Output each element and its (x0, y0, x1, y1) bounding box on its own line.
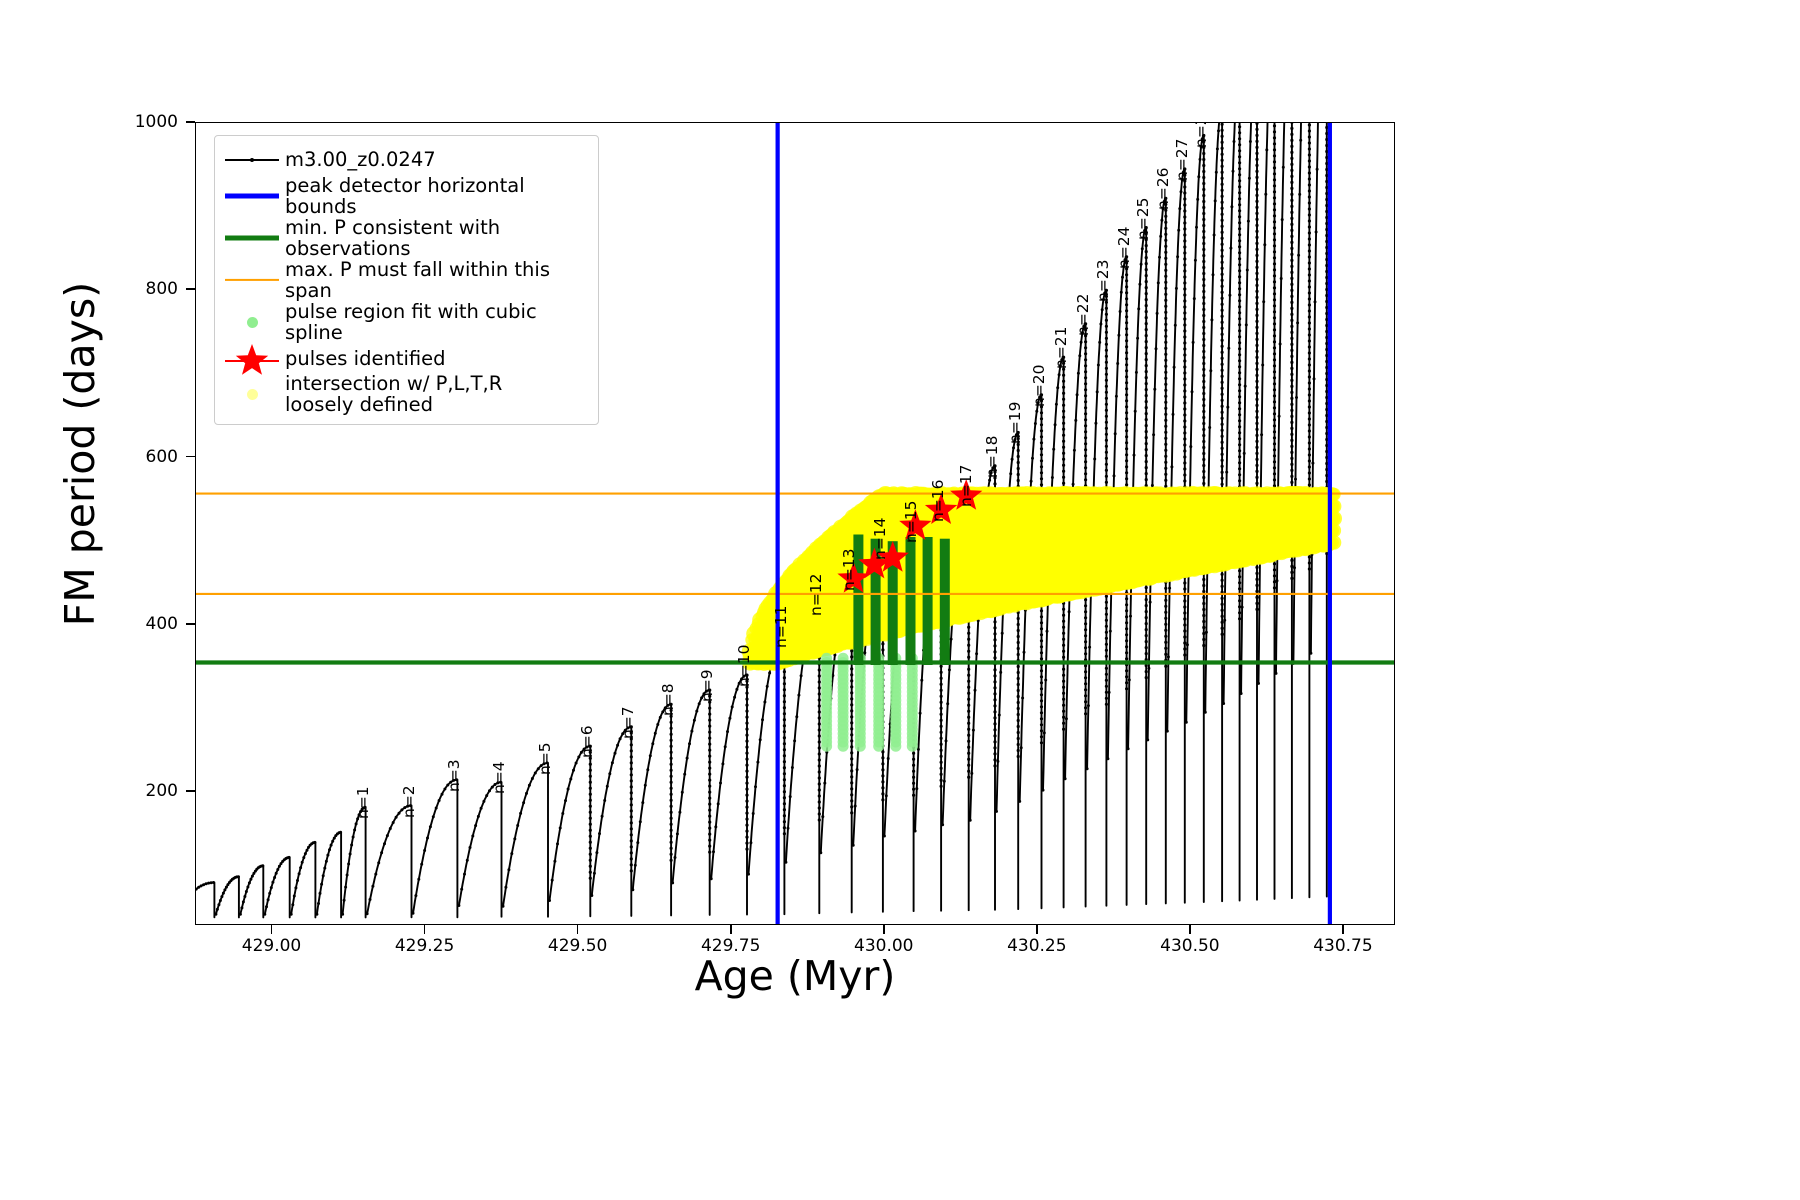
model-data-point (967, 698, 970, 701)
model-data-point (1125, 417, 1128, 420)
model-data-point (1183, 305, 1186, 308)
model-data-point (1020, 746, 1023, 749)
model-data-point (745, 842, 748, 845)
model-data-point (1160, 219, 1163, 222)
model-data-point (1164, 251, 1167, 254)
model-data-point (1290, 205, 1293, 208)
model-data-point (1086, 767, 1089, 770)
model-data-point (1164, 269, 1167, 272)
model-data-point (1164, 623, 1167, 626)
model-data-point (1308, 177, 1311, 180)
model-data-point (940, 701, 943, 704)
model-data-point (1046, 630, 1049, 633)
model-data-point (1164, 653, 1167, 656)
model-data-point (1221, 315, 1224, 318)
model-data-point (1308, 405, 1311, 408)
model-data-point (1290, 157, 1293, 160)
model-data-point (1199, 158, 1202, 161)
y-tick (186, 456, 195, 458)
model-data-point (1164, 263, 1167, 266)
legend[interactable]: m3.00_z0.0247peak detector horizontal bo… (214, 135, 599, 425)
model-data-point (818, 668, 821, 671)
model-data-point (783, 772, 786, 775)
model-data-point (1145, 358, 1148, 361)
model-data-point (940, 785, 943, 788)
legend-item-5[interactable]: pulses identified (223, 343, 588, 373)
model-data-point (783, 784, 786, 787)
model-data-point (1202, 170, 1205, 173)
model-data-point (1035, 410, 1038, 413)
model-data-point (1221, 447, 1224, 450)
model-data-point (420, 863, 423, 866)
model-data-point (1290, 331, 1293, 334)
model-data-point (350, 844, 353, 847)
model-data-point (783, 814, 786, 817)
model-data-point (670, 763, 673, 766)
model-data-point (1202, 326, 1205, 329)
model-data-point (301, 861, 304, 864)
model-data-point (1221, 291, 1224, 294)
model-data-point (1221, 597, 1224, 600)
model-data-point (1238, 413, 1241, 416)
model-data-point (818, 722, 821, 725)
model-track-segment (550, 746, 591, 916)
model-data-point (818, 692, 821, 695)
dot-marker-icon (223, 379, 281, 409)
y-tick-label: 400 (58, 614, 178, 634)
model-data-point (589, 877, 592, 880)
model-data-point (1125, 327, 1128, 330)
model-data-point (561, 812, 564, 815)
model-data-point (1105, 439, 1108, 442)
model-data-point (1125, 423, 1128, 426)
model-data-point (630, 839, 633, 842)
legend-item-3[interactable]: max. P must fall within this span (223, 259, 588, 301)
model-data-point (1145, 418, 1148, 421)
model-data-point (1202, 590, 1205, 593)
model-data-point (1145, 274, 1148, 277)
model-data-point (940, 767, 943, 770)
model-data-point (1189, 445, 1192, 448)
model-data-point (783, 808, 786, 811)
model-data-point (1183, 191, 1186, 194)
model-data-point (1221, 393, 1224, 396)
model-data-point (1221, 345, 1224, 348)
model-data-point (1202, 278, 1205, 281)
model-data-point (1202, 236, 1205, 239)
model-data-point (1040, 621, 1043, 624)
model-data-point (469, 846, 472, 849)
legend-item-6[interactable]: intersection w/ P,L,T,Rloosely defined (223, 373, 588, 415)
model-data-point (1183, 383, 1186, 386)
model-data-point (1105, 391, 1108, 394)
model-data-point (1164, 365, 1167, 368)
model-data-point (1202, 182, 1205, 185)
model-data-point (1145, 280, 1148, 283)
model-data-point (606, 785, 609, 788)
model-data-point (967, 710, 970, 713)
model-data-point (1084, 670, 1087, 673)
model-data-point (1017, 719, 1020, 722)
model-data-point (1308, 483, 1311, 486)
model-data-point (417, 878, 420, 881)
legend-item-0[interactable]: m3.00_z0.0247 (223, 145, 588, 175)
model-data-point (1221, 483, 1224, 486)
model-data-point (1062, 710, 1065, 713)
model-data-point (1145, 370, 1148, 373)
model-data-point (708, 725, 711, 728)
model-data-point (1183, 407, 1186, 410)
model-data-point (438, 799, 441, 802)
model-data-point (1170, 465, 1173, 468)
model-data-point (1145, 436, 1148, 439)
model-data-point (1290, 283, 1293, 286)
model-data-point (850, 799, 853, 802)
model-data-point (1202, 608, 1205, 611)
model-data-point (590, 894, 593, 897)
model-data-point (1221, 243, 1224, 246)
model-data-point (389, 827, 392, 830)
model-data-point (1125, 687, 1128, 690)
pulse-label-n-20: n=20 (1030, 364, 1048, 407)
model-data-point (1217, 129, 1220, 132)
model-data-point (1221, 321, 1224, 324)
model-data-point (1040, 741, 1043, 744)
model-data-point (1308, 369, 1311, 372)
model-data-point (1098, 341, 1101, 344)
model-data-point (1273, 370, 1276, 373)
model-data-point (1145, 334, 1148, 337)
model-data-point (1164, 359, 1167, 362)
model-data-point (559, 827, 562, 830)
model-data-point (1062, 656, 1065, 659)
model-data-point (1183, 239, 1186, 242)
model-data-point (1247, 220, 1250, 223)
model-data-point (768, 672, 771, 675)
model-data-point (993, 740, 996, 743)
model-data-point (589, 823, 592, 826)
model-data-point (1125, 597, 1128, 600)
model-data-point (967, 644, 970, 647)
model-data-point (1084, 634, 1087, 637)
model-data-point (708, 755, 711, 758)
model-data-point (1051, 476, 1054, 479)
model-data-point (745, 704, 748, 707)
model-data-point (1255, 392, 1258, 395)
model-data-point (1255, 146, 1258, 149)
model-data-point (1125, 363, 1128, 366)
y-tick-label: 800 (58, 279, 178, 299)
model-data-point (265, 905, 268, 908)
model-data-point (993, 626, 996, 629)
model-data-point (589, 841, 592, 844)
model-data-point (1202, 356, 1205, 359)
model-data-point (1290, 367, 1293, 370)
model-data-point (659, 716, 662, 719)
model-data-point (1290, 307, 1293, 310)
model-data-point (1290, 265, 1293, 268)
model-data-point (1225, 471, 1228, 474)
model-data-point (1273, 298, 1276, 301)
model-data-point (1255, 452, 1258, 455)
model-data-point (920, 679, 923, 682)
model-data-point (1105, 625, 1108, 628)
model-data-point (1183, 203, 1186, 206)
model-data-point (1094, 422, 1097, 425)
model-data-point (1290, 439, 1293, 442)
model-data-point (993, 764, 996, 767)
model-data-point (1105, 469, 1108, 472)
model-data-point (654, 732, 657, 735)
model-data-point (1044, 679, 1047, 682)
model-data-point (1255, 302, 1258, 305)
model-data-point (1017, 467, 1020, 470)
model-data-point (940, 755, 943, 758)
model-data-point (1238, 599, 1241, 602)
model-data-point (1101, 308, 1104, 311)
legend-item-4[interactable]: pulse region fit with cubic spline (223, 301, 588, 343)
model-data-point (1183, 467, 1186, 470)
model-data-point (1105, 415, 1108, 418)
model-data-point (1155, 347, 1158, 350)
model-data-point (1017, 461, 1020, 464)
model-data-point (912, 758, 915, 761)
model-data-point (1105, 397, 1108, 400)
model-data-point (1273, 196, 1276, 199)
model-data-point (1221, 285, 1224, 288)
legend-line (225, 279, 279, 281)
model-data-point (1308, 357, 1311, 360)
model-data-point (1040, 459, 1043, 462)
model-data-point (1125, 279, 1128, 282)
model-data-point (1040, 417, 1043, 420)
model-data-point (1068, 610, 1071, 613)
model-data-point (1273, 400, 1276, 403)
model-data-point (477, 815, 480, 818)
model-data-point (1145, 256, 1148, 259)
model-data-point (1221, 429, 1224, 432)
model-data-point (1084, 376, 1087, 379)
model-data-point (940, 683, 943, 686)
model-data-point (1009, 472, 1012, 475)
model-data-point (1062, 410, 1065, 413)
model-data-point (1238, 203, 1241, 206)
pulse-label-n-28: n=28 (1192, 122, 1210, 148)
model-data-point (1273, 358, 1276, 361)
model-data-point (731, 705, 734, 708)
legend-item-2[interactable]: min. P consistent with observations (223, 217, 588, 259)
model-data-point (1021, 697, 1024, 700)
model-data-point (1164, 245, 1167, 248)
model-data-point (1183, 389, 1186, 392)
model-data-point (1164, 611, 1167, 614)
model-data-point (366, 912, 369, 915)
model-data-point (1183, 215, 1186, 218)
model-data-point (850, 685, 853, 688)
model-data-point (641, 801, 644, 804)
model-data-point (1125, 675, 1128, 678)
model-data-point (589, 781, 592, 784)
model-track-segment (291, 842, 315, 917)
model-data-point (1316, 168, 1319, 171)
model-data-point (745, 782, 748, 785)
model-data-point (1183, 371, 1186, 374)
model-data-point (1084, 628, 1087, 631)
legend-label: peak detector horizontal bounds (281, 175, 588, 217)
model-data-point (1308, 303, 1311, 306)
model-data-point (1255, 152, 1258, 155)
model-data-point (1040, 675, 1043, 678)
model-data-point (881, 774, 884, 777)
model-data-point (630, 749, 633, 752)
model-data-point (1202, 152, 1205, 155)
thick-line-icon (223, 223, 281, 253)
model-data-point (1240, 692, 1243, 695)
model-data-point (850, 667, 853, 670)
model-data-point (1221, 411, 1224, 414)
model-data-point (967, 650, 970, 653)
model-data-point (1202, 620, 1205, 623)
model-data-point (1167, 655, 1170, 658)
model-data-point (1164, 371, 1167, 374)
model-data-point (1238, 197, 1241, 200)
model-data-point (821, 815, 824, 818)
model-data-point (823, 782, 826, 785)
model-data-point (993, 668, 996, 671)
model-data-point (1145, 586, 1148, 589)
model-data-point (1290, 337, 1293, 340)
model-data-point (1062, 458, 1065, 461)
model-data-point (912, 794, 915, 797)
model-data-point (1137, 307, 1140, 310)
model-data-point (1273, 124, 1276, 127)
model-data-point (745, 824, 748, 827)
model-data-point (1308, 453, 1311, 456)
model-data-point (745, 716, 748, 719)
model-data-point (237, 875, 240, 878)
model-data-point (783, 790, 786, 793)
model-data-point (1105, 655, 1108, 658)
model-data-point (967, 632, 970, 635)
model-data-point (1121, 276, 1124, 279)
model-data-point (1105, 679, 1108, 682)
model-data-point (1255, 332, 1258, 335)
model-data-point (791, 766, 794, 769)
model-data-point (850, 805, 853, 808)
model-data-point (1183, 623, 1186, 626)
model-data-point (1125, 483, 1128, 486)
model-data-point (1125, 441, 1128, 444)
model-data-point (1221, 135, 1224, 138)
pulse-label-n-3: n=3 (445, 759, 463, 792)
model-data-point (1145, 676, 1148, 679)
model-data-point (1246, 269, 1249, 272)
model-data-point (1221, 213, 1224, 216)
model-data-point (1125, 639, 1128, 642)
model-data-point (1134, 410, 1137, 413)
model-data-point (1183, 233, 1186, 236)
model-data-point (291, 903, 294, 906)
model-data-point (1238, 617, 1241, 620)
model-data-point (967, 680, 970, 683)
model-data-point (1238, 257, 1241, 260)
model-data-point (1212, 273, 1215, 276)
model-data-point (1158, 256, 1161, 259)
model-data-point (745, 776, 748, 779)
legend-item-1[interactable]: peak detector horizontal bounds (223, 175, 588, 217)
model-data-point (708, 833, 711, 836)
model-data-point (1105, 421, 1108, 424)
model-data-point (1221, 249, 1224, 252)
model-data-point (670, 841, 673, 844)
model-data-point (850, 793, 853, 796)
model-data-point (1221, 621, 1224, 624)
model-data-point (1221, 231, 1224, 234)
model-data-point (513, 837, 516, 840)
model-data-point (1273, 448, 1276, 451)
model-data-point (1215, 171, 1218, 174)
model-data-point (1164, 419, 1167, 422)
model-data-point (1255, 284, 1258, 287)
model-data-point (589, 859, 592, 862)
model-data-point (1093, 458, 1096, 461)
model-data-point (1062, 722, 1065, 725)
model-data-point (1183, 287, 1186, 290)
model-data-point (1290, 373, 1293, 376)
model-data-point (1040, 435, 1043, 438)
model-data-point (589, 793, 592, 796)
model-data-point (1183, 257, 1186, 260)
model-data-point (1135, 371, 1138, 374)
model-data-point (1183, 419, 1186, 422)
model-data-point (1145, 310, 1148, 313)
model-data-point (1040, 735, 1043, 738)
model-data-point (881, 798, 884, 801)
model-data-point (1273, 454, 1276, 457)
model-data-point (1145, 424, 1148, 427)
model-data-point (1105, 325, 1108, 328)
model-data-point (1290, 253, 1293, 256)
model-data-point (1084, 466, 1087, 469)
model-data-point (1164, 479, 1167, 482)
model-data-point (1183, 269, 1186, 272)
model-data-point (1084, 460, 1087, 463)
model-data-point (1125, 633, 1128, 636)
model-data-point (708, 743, 711, 746)
model-data-point (1120, 291, 1123, 294)
model-data-point (1052, 448, 1055, 451)
model-data-point (708, 707, 711, 710)
pulse-label-n-14: n=14 (871, 517, 889, 560)
model-data-point (1084, 682, 1087, 685)
model-data-point (1017, 683, 1020, 686)
model-data-point (1290, 463, 1293, 466)
model-data-point (1078, 354, 1081, 357)
model-data-point (818, 686, 821, 689)
model-data-point (1164, 353, 1167, 356)
model-data-point (1273, 418, 1276, 421)
model-data-point (818, 710, 821, 713)
model-data-point (1255, 338, 1258, 341)
model-data-point (1159, 235, 1162, 238)
model-data-point (1202, 308, 1205, 311)
model-data-point (1125, 447, 1128, 450)
model-data-point (1084, 598, 1087, 601)
model-data-point (1290, 193, 1293, 196)
model-data-point (993, 638, 996, 641)
model-data-point (1192, 341, 1195, 344)
model-data-point (1202, 614, 1205, 617)
